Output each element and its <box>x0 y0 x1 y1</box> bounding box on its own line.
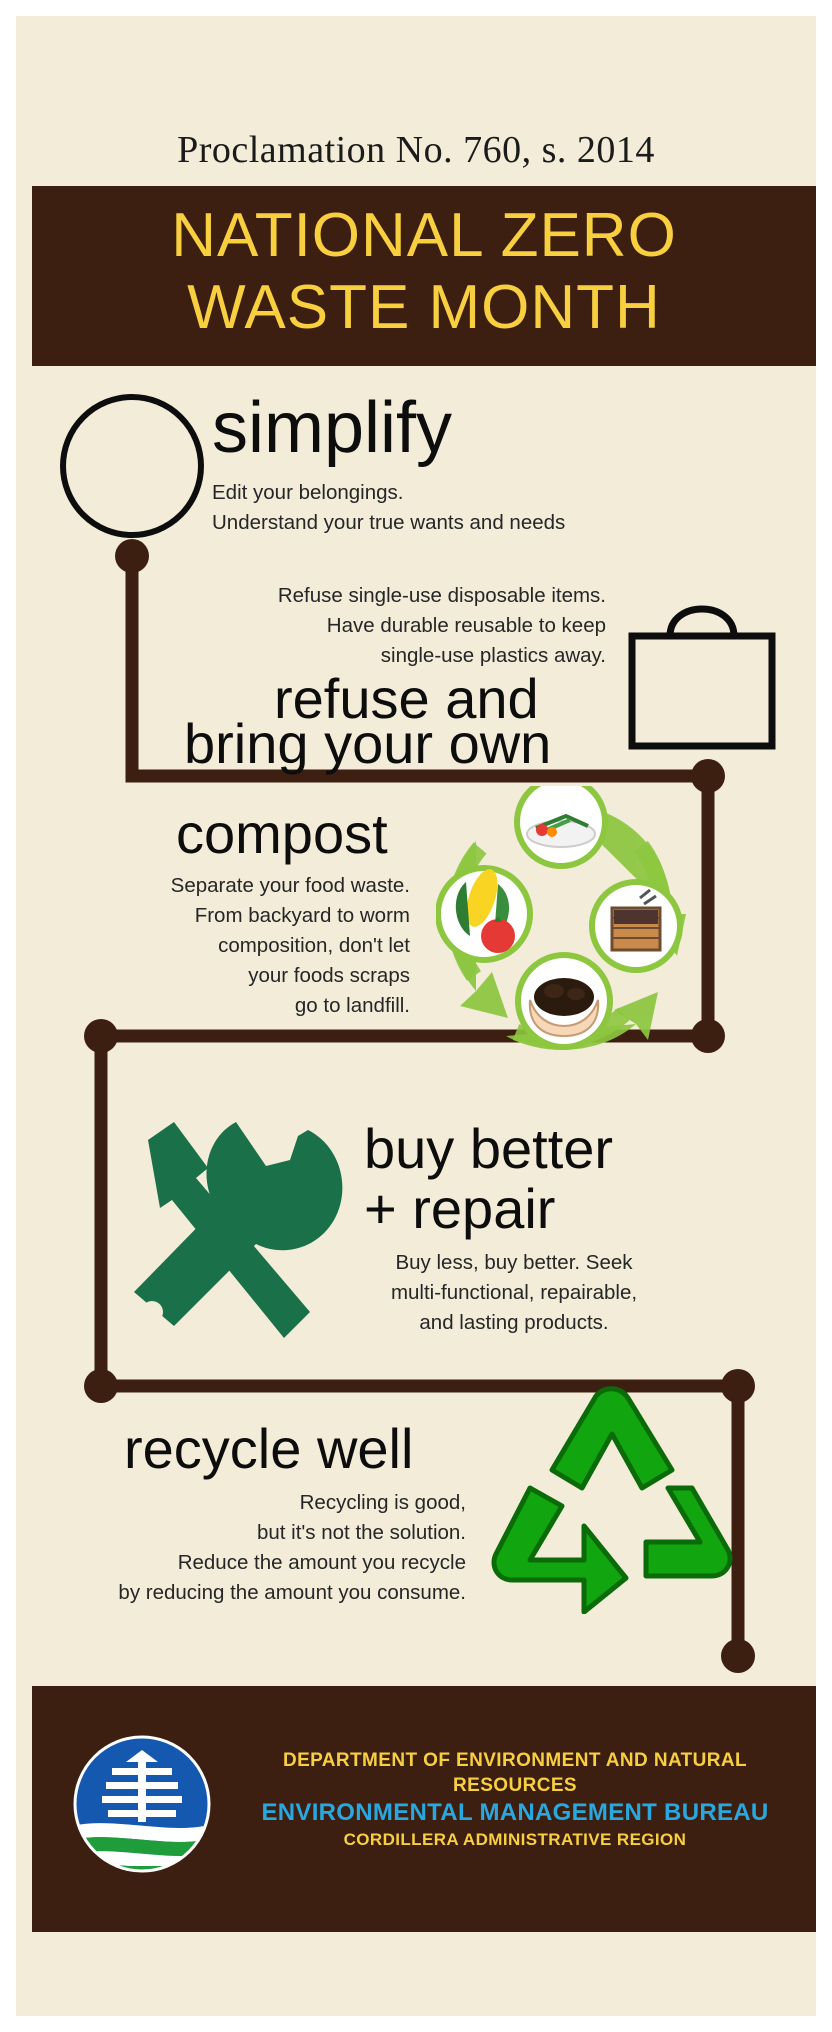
simplify-heading: simplify <box>212 392 452 464</box>
buy-better-body-line: Buy less, buy better. Seek <box>364 1248 664 1278</box>
title-line-2: WASTE MONTH <box>32 272 816 343</box>
recycle-arrows-icon <box>486 1384 736 1614</box>
footer-bar: DEPARTMENT OF ENVIRONMENT AND NATURAL RE… <box>32 1686 816 1932</box>
circle-icon <box>60 394 204 538</box>
recycle-body-line: but it's not the solution. <box>76 1518 466 1548</box>
refuse-body-line: Have durable reusable to keep <box>206 611 606 641</box>
refuse-heading-line-2: bring your own <box>184 716 551 772</box>
footer-region-name: CORDILLERA ADMINISTRATIVE REGION <box>232 1828 798 1852</box>
denr-seal-logo <box>72 1734 212 1874</box>
refuse-body-line: Refuse single-use disposable items. <box>206 581 606 611</box>
simplify-body-line: Edit your belongings. <box>212 478 632 508</box>
buy-better-heading-line-2: + repair <box>364 1181 555 1237</box>
compost-body-line: composition, don't let <box>110 931 410 961</box>
footer-department-name: DEPARTMENT OF ENVIRONMENT AND NATURAL RE… <box>232 1748 798 1798</box>
recycle-body: Recycling is good, but it's not the solu… <box>76 1488 466 1608</box>
recycle-body-line: Reduce the amount you recycle <box>76 1548 466 1578</box>
connector-node <box>691 1019 725 1053</box>
compost-body-line: go to landfill. <box>110 991 410 1021</box>
connector-node <box>84 1369 118 1403</box>
compost-cycle-icon <box>436 786 686 1056</box>
recycle-heading: recycle well <box>124 1421 413 1477</box>
buy-better-heading-line-1: buy better <box>364 1121 613 1177</box>
simplify-body-line: Understand your true wants and needs <box>212 508 632 538</box>
buy-better-body: Buy less, buy better. Seek multi-functio… <box>364 1248 664 1338</box>
buy-better-body-line: and lasting products. <box>364 1308 664 1338</box>
shopping-bag-icon <box>622 586 782 751</box>
connector-node <box>115 539 149 573</box>
footer-bureau-name: ENVIRONMENTAL MANAGEMENT BUREAU <box>232 1798 798 1828</box>
refuse-body: Refuse single-use disposable items. Have… <box>206 581 606 671</box>
connector-node <box>721 1639 755 1673</box>
compost-body-line: From backyard to worm <box>110 901 410 931</box>
title-line-1: NATIONAL ZERO <box>32 200 816 271</box>
simplify-body: Edit your belongings. Understand your tr… <box>212 478 632 538</box>
recycle-body-line: Recycling is good, <box>76 1488 466 1518</box>
connector-node <box>84 1019 118 1053</box>
connector-node <box>691 759 725 793</box>
title-banner: NATIONAL ZERO WASTE MONTH <box>32 186 816 366</box>
compost-heading: compost <box>176 806 388 862</box>
compost-body-line: Separate your food waste. <box>110 871 410 901</box>
compost-body-line: your foods scraps <box>110 961 410 991</box>
recycle-body-line: by reducing the amount you consume. <box>76 1578 466 1608</box>
proclamation-subtitle: Proclamation No. 760, s. 2014 <box>16 128 816 172</box>
wrench-screwdriver-icon <box>112 1116 362 1346</box>
footer-text-block: DEPARTMENT OF ENVIRONMENT AND NATURAL RE… <box>232 1748 798 1852</box>
buy-better-body-line: multi-functional, repairable, <box>364 1278 664 1308</box>
compost-body: Separate your food waste. From backyard … <box>110 871 410 1021</box>
infographic-poster: Proclamation No. 760, s. 2014 NATIONAL Z… <box>16 16 816 2016</box>
